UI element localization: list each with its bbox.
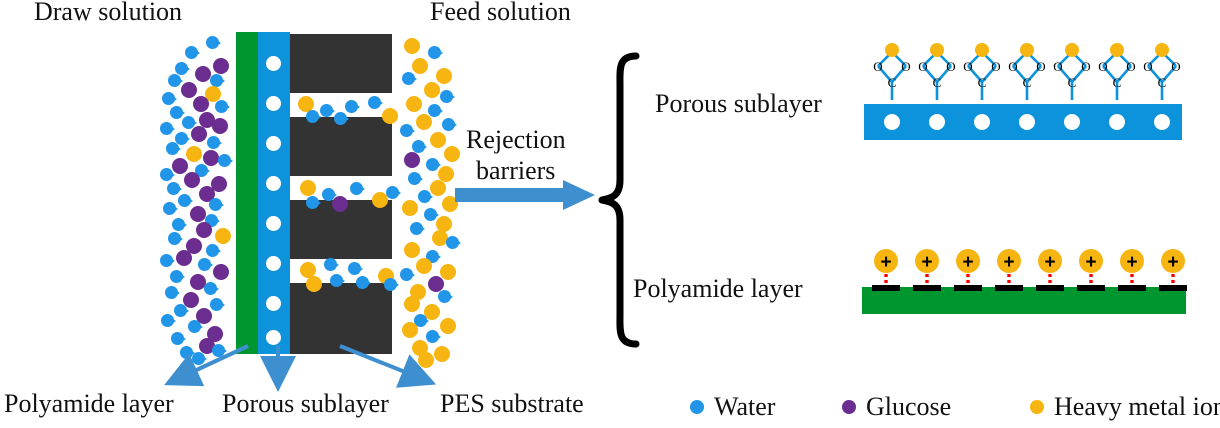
- svg-text:+: +: [880, 252, 891, 273]
- water-particle: [400, 268, 413, 281]
- svg-text:O: O: [918, 59, 927, 74]
- metal-ion-particle: [215, 228, 231, 244]
- porous-sublayer-pore: [929, 114, 945, 130]
- glucose-particle: [213, 264, 229, 280]
- svg-text:C: C: [933, 75, 942, 90]
- water-particle: [168, 232, 181, 245]
- water-particle: [412, 140, 425, 153]
- carboxylate-metal-complex: OOC: [869, 40, 915, 104]
- water-particle: [170, 270, 183, 283]
- water-particle: [306, 110, 319, 123]
- svg-text:O: O: [1126, 59, 1135, 74]
- metal-ion-particle: [416, 258, 432, 274]
- glucose-particle: [184, 172, 200, 188]
- glucose-particle: [191, 126, 207, 142]
- legend-item-water: Water: [690, 392, 775, 422]
- metal-ion-particle: [412, 58, 428, 74]
- label-polyamide-layer-right: Polyamide layer: [633, 275, 803, 302]
- metal-ion-particle: [416, 114, 432, 130]
- water-particle: [160, 254, 173, 267]
- metal-ion-particle: [404, 296, 420, 312]
- metal-ion-particle: [444, 146, 460, 162]
- svg-text:+: +: [921, 252, 932, 273]
- svg-text:O: O: [1098, 59, 1107, 74]
- porous-sublayer-pore: [974, 114, 990, 130]
- svg-text:C: C: [1023, 75, 1032, 90]
- pes-block: [290, 34, 392, 93]
- water-particle: [408, 172, 421, 185]
- svg-text:C: C: [1068, 75, 1077, 90]
- water-particle: [320, 104, 333, 117]
- metal-ion-particle: [406, 96, 422, 112]
- metal-ion-particle: [404, 38, 420, 54]
- water-particle: [218, 154, 231, 167]
- svg-text:O: O: [963, 59, 972, 74]
- water-particle: [440, 90, 453, 103]
- glucose-particle: [176, 250, 192, 266]
- svg-text:O: O: [1143, 59, 1152, 74]
- legend-label-metal: Heavy metal ions: [1054, 392, 1220, 422]
- curly-brace: [596, 52, 644, 348]
- porous-sublayer-pore: [1154, 114, 1170, 130]
- water-particle: [206, 36, 219, 49]
- porous-sublayer-pore: [1109, 114, 1125, 130]
- water-particle: [410, 222, 423, 235]
- svg-text:C: C: [978, 75, 987, 90]
- rejection-barriers-line1: Rejection: [466, 126, 566, 153]
- svg-text:O: O: [991, 59, 1000, 74]
- water-particle: [384, 278, 397, 291]
- svg-text:O: O: [1053, 59, 1062, 74]
- carboxylate-metal-complex: OOC: [959, 40, 1005, 104]
- water-particle: [170, 106, 183, 119]
- carboxylate-metal-complex: OOC: [1094, 40, 1140, 104]
- metal-ion-particle: [402, 322, 418, 338]
- label-porous-sublayer-right: Porous sublayer: [655, 90, 822, 117]
- svg-text:C: C: [888, 75, 897, 90]
- svg-text:C: C: [1113, 75, 1122, 90]
- water-particle: [350, 182, 363, 195]
- water-particle: [207, 136, 220, 149]
- water-particle: [166, 142, 179, 155]
- carboxylate-metal-complex: OOC: [914, 40, 960, 104]
- water-particle: [161, 314, 174, 327]
- polyamide-charge-site: +: [866, 248, 906, 292]
- water-particle: [174, 304, 187, 317]
- water-particle: [160, 122, 173, 135]
- water-particle: [178, 194, 191, 207]
- water-particle: [348, 262, 361, 275]
- membrane-pore: [266, 296, 281, 311]
- water-particle: [324, 258, 337, 271]
- metal-ion-particle: [430, 132, 446, 148]
- water-particle: [163, 202, 176, 215]
- svg-text:+: +: [962, 252, 973, 273]
- legend-swatch-glucose: [842, 400, 856, 414]
- legend-swatch-metal: [1030, 400, 1044, 414]
- porous-sublayer-pore: [884, 114, 900, 130]
- label-polyamide-layer-bottom: Polyamide layer: [4, 390, 174, 417]
- diagram-canvas: Draw solution Feed solution Polyamide la…: [0, 0, 1220, 428]
- membrane-pore: [266, 216, 281, 231]
- polyamide-charge-site: +: [1071, 248, 1111, 292]
- feed-solution-title: Feed solution: [430, 0, 571, 25]
- svg-text:+: +: [1167, 252, 1178, 273]
- water-particle: [168, 74, 181, 87]
- glucose-particle: [404, 152, 420, 168]
- water-particle: [215, 100, 228, 113]
- polyamide-charge-site: +: [989, 248, 1029, 292]
- glucose-particle: [332, 196, 348, 212]
- legend-item-metal: Heavy metal ions: [1030, 392, 1220, 422]
- glucose-particle: [193, 96, 209, 112]
- water-particle: [400, 124, 413, 137]
- water-particle: [428, 104, 441, 117]
- svg-text:O: O: [1008, 59, 1017, 74]
- water-particle: [185, 46, 198, 59]
- label-pes-substrate-bottom: PES substrate: [440, 390, 584, 417]
- membrane-pore: [266, 96, 281, 111]
- water-particle: [438, 290, 451, 303]
- water-particle: [175, 62, 188, 75]
- water-particle: [424, 208, 437, 221]
- water-particle: [368, 96, 381, 109]
- legend-label-water: Water: [714, 392, 775, 422]
- water-particle: [402, 72, 415, 85]
- water-particle: [167, 182, 180, 195]
- legend-swatch-water: [690, 400, 704, 414]
- water-particle: [198, 258, 211, 271]
- metal-ion-particle: [436, 68, 452, 84]
- water-particle: [446, 236, 459, 249]
- metal-ion-particle: [440, 318, 456, 334]
- polyamide-charge-site: +: [1153, 248, 1193, 292]
- membrane-polyamide-layer: [236, 32, 258, 354]
- carboxylate-metal-complex: OOC: [1139, 40, 1185, 104]
- water-particle: [426, 158, 439, 171]
- pes-block: [290, 117, 392, 176]
- legend-label-glucose: Glucose: [866, 392, 951, 422]
- legend-item-glucose: Glucose: [842, 392, 951, 422]
- water-particle: [162, 92, 175, 105]
- glucose-particle: [196, 222, 212, 238]
- water-particle: [172, 218, 185, 231]
- label-porous-sublayer-bottom: Porous sublayer: [222, 390, 389, 417]
- water-particle: [334, 112, 347, 125]
- metal-ion-particle: [424, 82, 440, 98]
- polyamide-charge-site: +: [907, 248, 947, 292]
- polyamide-charge-site: +: [1030, 248, 1070, 292]
- metal-ion-particle: [306, 276, 322, 292]
- water-particle: [345, 100, 358, 113]
- polyamide-charge-site: +: [948, 248, 988, 292]
- glucose-particle: [181, 82, 197, 98]
- glucose-particle: [195, 66, 211, 82]
- svg-text:+: +: [1126, 252, 1137, 273]
- metal-ion-particle: [404, 242, 420, 258]
- glucose-particle: [190, 206, 206, 222]
- svg-text:O: O: [873, 59, 882, 74]
- membrane-pore: [266, 136, 281, 151]
- carboxylate-metal-complex: OOC: [1049, 40, 1095, 104]
- svg-text:O: O: [1081, 59, 1090, 74]
- svg-text:C: C: [1158, 75, 1167, 90]
- membrane-pore: [266, 176, 281, 191]
- svg-text:O: O: [901, 59, 910, 74]
- svg-text:O: O: [946, 59, 955, 74]
- water-particle: [330, 274, 343, 287]
- metal-ion-particle: [402, 200, 418, 216]
- water-particle: [386, 186, 399, 199]
- water-particle: [165, 286, 178, 299]
- water-particle: [428, 46, 441, 59]
- porous-sublayer-pore: [1064, 114, 1080, 130]
- metal-ion-particle: [382, 108, 398, 124]
- water-particle: [160, 168, 173, 181]
- svg-text:+: +: [1044, 252, 1055, 273]
- polyamide-charge-site: +: [1112, 248, 1152, 292]
- water-particle: [210, 298, 223, 311]
- water-particle: [356, 276, 369, 289]
- metal-ion-particle: [440, 264, 456, 280]
- svg-text:O: O: [1171, 59, 1180, 74]
- water-particle: [204, 282, 217, 295]
- membrane-pore: [266, 256, 281, 271]
- glucose-particle: [213, 58, 229, 74]
- svg-text:O: O: [1036, 59, 1045, 74]
- glucose-particle: [212, 118, 228, 134]
- membrane-pore: [266, 56, 281, 71]
- water-particle: [306, 196, 319, 209]
- rejection-arrow-icon: [455, 178, 605, 212]
- water-particle: [209, 198, 222, 211]
- porous-sublayer-pore: [1019, 114, 1035, 130]
- svg-text:+: +: [1085, 252, 1096, 273]
- carboxylate-metal-complex: OOC: [1004, 40, 1050, 104]
- glucose-particle: [203, 150, 219, 166]
- water-particle: [418, 190, 431, 203]
- water-particle: [188, 320, 201, 333]
- metal-ion-particle: [186, 146, 202, 162]
- metal-ion-particle: [300, 180, 316, 196]
- water-particle: [442, 118, 455, 131]
- svg-text:+: +: [1003, 252, 1014, 273]
- draw-solution-title: Draw solution: [34, 0, 182, 25]
- water-particle: [206, 244, 219, 257]
